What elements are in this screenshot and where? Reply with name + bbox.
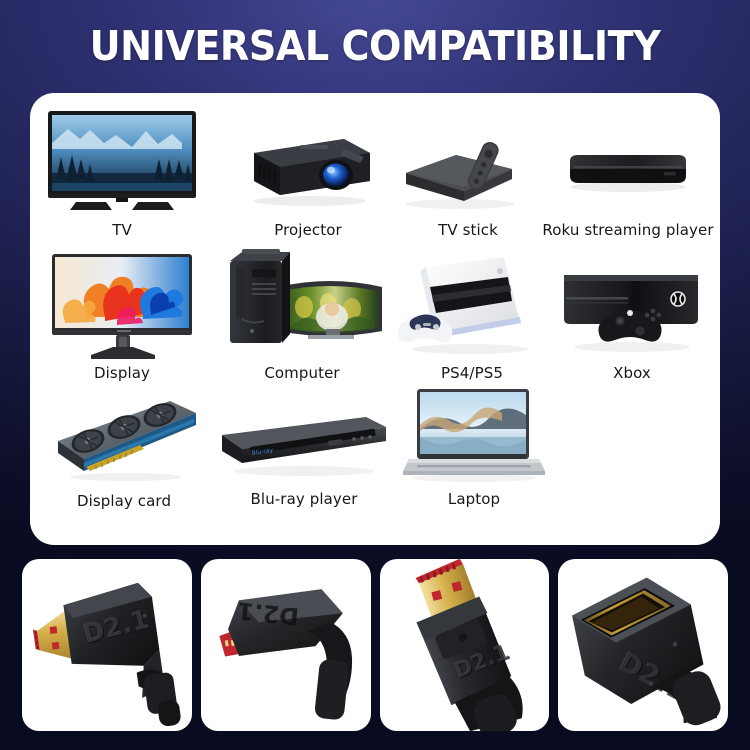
device-label: Projector bbox=[220, 222, 396, 239]
computer-icon bbox=[208, 245, 396, 359]
graphics-card-icon bbox=[36, 393, 212, 485]
device-grid: TV bbox=[30, 93, 720, 545]
display-monitor-icon bbox=[34, 251, 210, 359]
device-label: Roku streaming player bbox=[540, 222, 716, 239]
infographic-root: UNIVERSAL COMPATIBILITY bbox=[0, 0, 750, 750]
device-label: TV stick bbox=[380, 222, 556, 239]
laptop-icon bbox=[386, 385, 562, 483]
device-label: TV bbox=[34, 222, 210, 239]
compatibility-card: TV bbox=[30, 93, 720, 545]
connector-right-angle-displayport-male-left[interactable]: D2.1 D2.1 bbox=[22, 559, 192, 731]
tv-stick-icon bbox=[380, 109, 556, 213]
page-title: UNIVERSAL COMPATIBILITY bbox=[26, 22, 724, 70]
projector-icon bbox=[220, 109, 396, 213]
device-label: Xbox bbox=[544, 365, 720, 382]
xbox-console-icon bbox=[544, 249, 720, 359]
device-item-display-card[interactable]: Display card bbox=[36, 393, 212, 510]
device-label: Display card bbox=[36, 493, 212, 510]
device-item-bluray-player[interactable]: Blu-ray Blu-ray player bbox=[210, 395, 398, 508]
device-item-roku-streaming-player[interactable]: Roku streaming player bbox=[540, 109, 716, 239]
device-item-tv-stick[interactable]: TV stick bbox=[380, 109, 556, 239]
device-item-display[interactable]: Display bbox=[34, 251, 210, 382]
device-label: PS4/PS5 bbox=[382, 365, 562, 382]
device-label: Computer bbox=[208, 365, 396, 382]
device-label: Display bbox=[34, 365, 210, 382]
device-item-projector[interactable]: Projector bbox=[220, 109, 396, 239]
connector-right-angle-displayport-male-down[interactable]: D2.1 bbox=[201, 559, 371, 731]
device-label: Laptop bbox=[386, 491, 562, 508]
connector-displayport-female-socket[interactable]: D2.1 D2.1 bbox=[558, 559, 728, 731]
bluray-player-icon: Blu-ray bbox=[210, 395, 398, 483]
device-item-computer[interactable]: Computer bbox=[208, 245, 396, 382]
device-label: Blu-ray player bbox=[210, 491, 398, 508]
roku-streaming-player-icon bbox=[540, 109, 716, 213]
device-item-tv[interactable]: TV bbox=[34, 109, 210, 239]
playstation-console-icon bbox=[382, 249, 562, 359]
device-item-laptop[interactable]: Laptop bbox=[386, 385, 562, 508]
connector-straight-displayport-male-up[interactable]: D2.1 D2.1 bbox=[380, 559, 550, 731]
tv-icon bbox=[34, 109, 210, 213]
device-item-xbox[interactable]: Xbox bbox=[544, 249, 720, 382]
connector-panels: D2.1 D2.1 bbox=[22, 559, 728, 731]
device-item-playstation[interactable]: PS4/PS5 bbox=[382, 249, 562, 382]
